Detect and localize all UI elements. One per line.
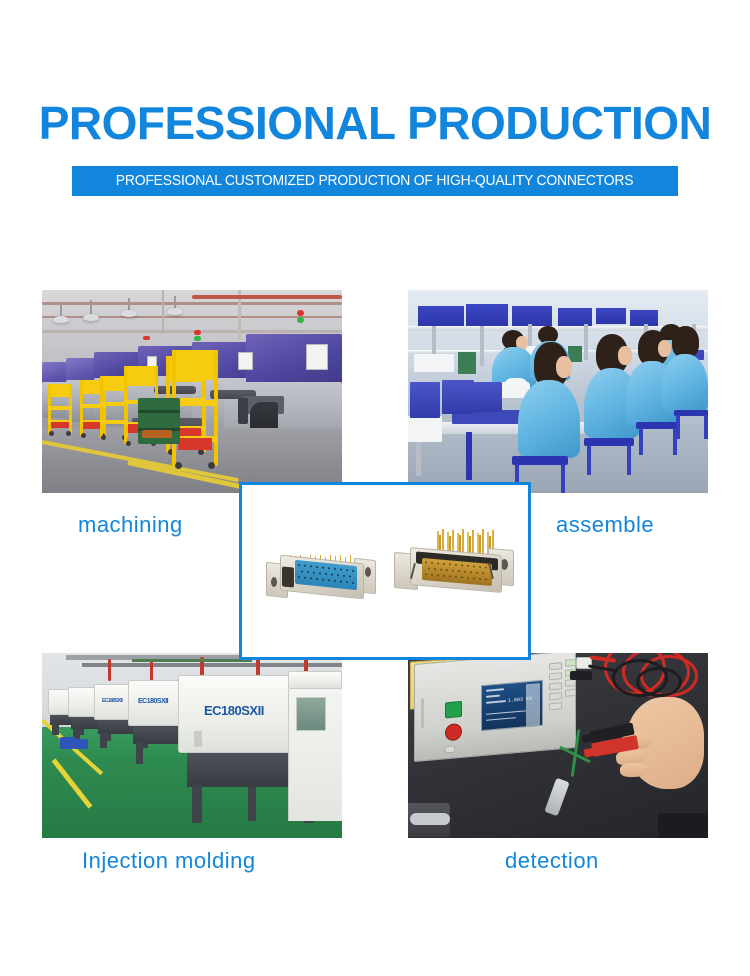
connector-male-dsub <box>394 529 514 601</box>
connector-female-dsub <box>266 547 376 599</box>
caption-assemble: assemble <box>556 512 654 538</box>
injection-molding-photo: EC180SXII EC180SXII EC180SXII <box>42 653 342 838</box>
gallery-image-detection[interactable]: 1.003 kV <box>408 653 708 838</box>
detection-photo: 1.003 kV <box>408 653 708 838</box>
subtitle-text: PROFESSIONAL CUSTOMIZED PRODUCTION OF HI… <box>116 173 634 189</box>
machining-photo <box>42 290 342 493</box>
gallery-image-machining[interactable] <box>42 290 342 493</box>
production-showcase-page: PROFESSIONAL PRODUCTION PROFESSIONAL CUS… <box>0 0 750 976</box>
caption-injection-molding: Injection molding <box>82 848 256 874</box>
gallery-image-assemble[interactable] <box>408 290 708 493</box>
gallery-image-injection-molding[interactable]: EC180SXII EC180SXII EC180SXII <box>42 653 342 838</box>
caption-machining: machining <box>78 512 183 538</box>
product-highlight-panel[interactable] <box>239 482 531 660</box>
assemble-photo <box>408 290 708 493</box>
hipot-tester: 1.003 kV <box>414 653 576 762</box>
subtitle-banner: PROFESSIONAL CUSTOMIZED PRODUCTION OF HI… <box>72 166 678 196</box>
caption-detection: detection <box>505 848 599 874</box>
machine-model-label: EC180SXII <box>204 703 264 718</box>
page-title: PROFESSIONAL PRODUCTION <box>0 96 750 150</box>
